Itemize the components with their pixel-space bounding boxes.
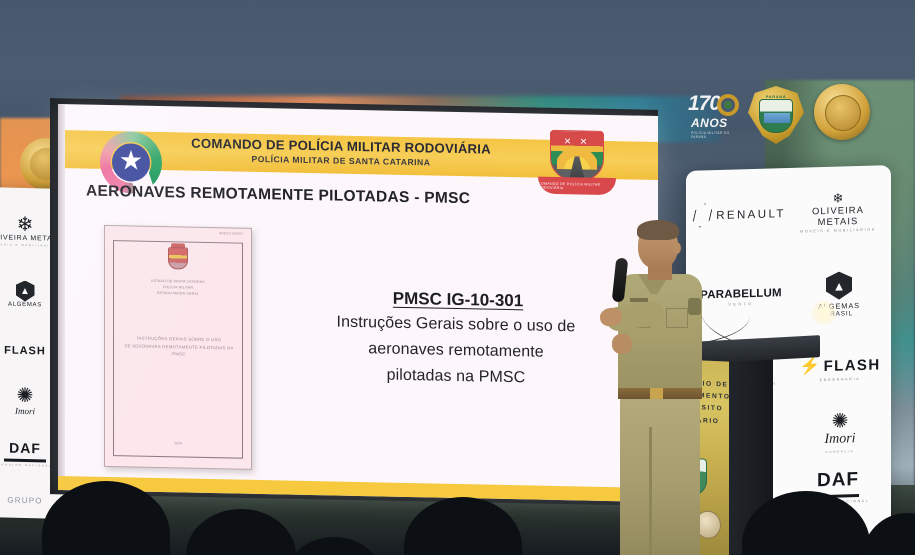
imori-mark-icon: ✺ <box>17 386 34 406</box>
sponsor-renault-name: RENAULT <box>716 208 786 222</box>
sponsor-oliveira-sub: MÓVEIS E MOBILIÁRIOS <box>800 227 876 233</box>
presentation-slide: ★ COMANDO DE POLÍCIA MILITAR RODOVIÁRIA … <box>58 104 658 502</box>
sponsor-left-5-name: DAF <box>9 439 41 456</box>
sponsor-daf-name: DAF <box>817 469 859 492</box>
speaker-leg-seam <box>649 427 652 555</box>
oliveira-metais-icon: ❄ <box>17 215 34 235</box>
speaker-uniform-torso <box>618 274 702 394</box>
anniversary-ring-icon <box>717 94 739 116</box>
daf-bars-icon <box>4 458 46 462</box>
slide-left-edge <box>58 104 65 490</box>
algemas-shield-icon: ▲ <box>16 280 35 301</box>
speaker-legs <box>620 397 700 555</box>
anniversary-word: ANOS <box>691 116 728 130</box>
photo-scene: 170 ANOS POLÍCIA MILITAR DO PARANÁ PARAN… <box>0 0 915 555</box>
star-icon: ★ <box>119 147 143 174</box>
imori-logo-icon: ✺ <box>832 411 849 431</box>
parana-police-badge-icon: PARANÁ <box>748 86 804 144</box>
speaker-ear <box>672 242 681 254</box>
sponsor-imori-name: Imori <box>824 431 855 448</box>
slide-title: AERONAVES REMOTAMENTE PILOTADAS - PMSC <box>86 183 606 211</box>
emblem-ribbon-text: COMANDO DE POLÍCIA MILITAR RODOVIÁRIA <box>538 181 616 191</box>
sponsor-flash-sub: ENGENHARIA <box>820 377 861 382</box>
sponsor-left-5-sub: ORGULHO NACIONAL <box>0 463 52 467</box>
sponsor-left-2-name: ALGEMAS <box>8 301 42 308</box>
sponsor-imori-sub: COMÉRCIO <box>826 449 855 454</box>
sponsor-flash-name: FLASH <box>824 356 881 375</box>
sponsor-left-1-sub: MÓVEIS E MOBILIÁRIOS <box>0 243 57 248</box>
speaker-hand-holding-mic <box>612 334 632 354</box>
document-cover-image: ANEXO ÚNICO ESTADO DE SANTA CATARINA POL… <box>104 225 252 470</box>
flash-bolt-icon: ⚡ <box>799 356 820 377</box>
badge-shield-label: PARANÁ <box>748 94 804 99</box>
sponsor-left-6-name: GRUPO <box>7 495 42 505</box>
gold-medallion-icon-right <box>814 84 870 140</box>
speaker-shoulder-patch <box>688 298 701 315</box>
anniversary-number: 170 <box>688 92 720 116</box>
badge-shield <box>759 99 793 133</box>
arms-shield <box>168 247 188 269</box>
brand-core-icon: ★ <box>112 143 150 182</box>
speaker-belt-buckle <box>650 388 663 399</box>
santa-catarina-coat-of-arms-icon <box>165 243 191 274</box>
sponsor-left-3-name: FLASH <box>4 344 46 357</box>
oliveira-metais-logo-icon: ❄ <box>833 191 844 204</box>
document-organization: ESTADO DE SANTA CATARINA POLÍCIA MILITAR… <box>105 278 251 299</box>
speaker-pocket-right <box>666 308 688 328</box>
document-title: INSTRUÇÕES GERAIS SOBRE O USO DE AERONAV… <box>113 334 245 359</box>
speaker-hair <box>637 220 679 240</box>
anniversary-tagline: POLÍCIA MILITAR DO PARANÁ <box>691 131 744 139</box>
slide-body-code: PMSC IG-10-301 <box>308 287 608 313</box>
slide-body-line-3: pilotadas na PMSC <box>296 365 616 389</box>
document-annotation: ANEXO ÚNICO <box>219 231 243 235</box>
speaker-person <box>600 222 740 555</box>
slide-body-line-2: aeronaves remotamente <box>296 339 616 363</box>
emblem-shield: ✕ ✕ <box>550 130 604 181</box>
slide-body-line-1: Instruções Gerais sobre o uso de <box>296 313 616 337</box>
sponsor-left-4-name: Imori <box>15 406 35 416</box>
sponsor-oliveira-name: OLIVEIRA METAIS <box>790 203 886 228</box>
cpmrv-emblem-icon: ✕ ✕ COMANDO DE POLÍCIA MILITAR RODOVIÁRI… <box>538 130 616 198</box>
algemas-brasil-logo-icon: ▲ <box>826 271 852 300</box>
anniversary-170-badge: 170 ANOS POLÍCIA MILITAR DO PARANÁ <box>686 90 744 142</box>
